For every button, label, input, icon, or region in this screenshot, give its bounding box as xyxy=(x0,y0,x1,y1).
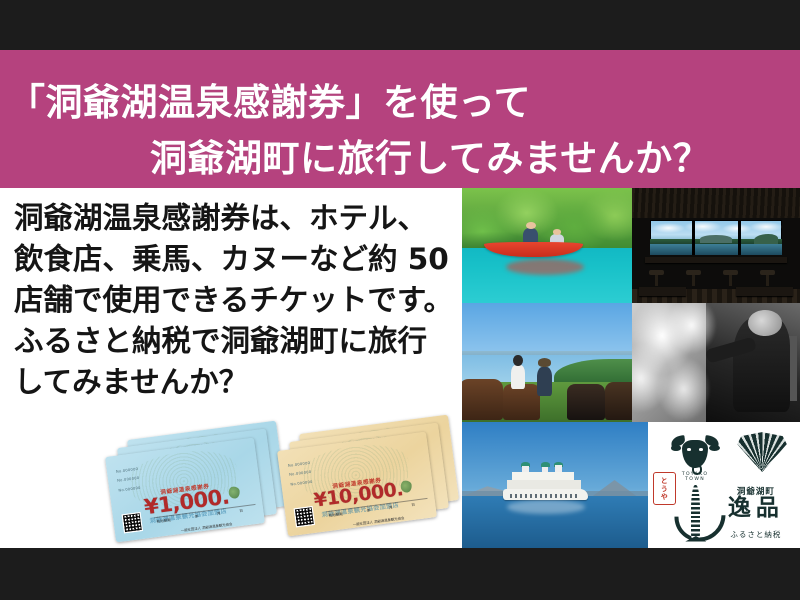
voucher-expiry-label: 有効期限 xyxy=(156,518,171,525)
body-line-1: 洞爺湖温泉感謝券は、ホテル、 xyxy=(14,198,466,239)
voucher-photo-group: 洞爺湖温泉感謝券 洞爺湖温泉感謝券 No.000000 No.000000 No… xyxy=(100,422,460,548)
cruise-ship-photo xyxy=(462,422,648,548)
body-copy: 洞爺湖温泉感謝券は、ホテル、 飲食店、乗馬、カヌーなど約 50 店舗で使用できる… xyxy=(14,198,466,403)
headline-line-2: 洞爺湖町に旅行してみませんか？ xyxy=(150,128,710,182)
qr-code-icon xyxy=(122,512,143,533)
logo-roman-text: TOYAKO TOWN xyxy=(671,472,720,482)
slide-canvas: 「洞爺湖温泉感謝券」を使って 洞爺湖町に旅行してみませんか？ 洞爺湖温泉感謝券は… xyxy=(0,50,800,548)
voucher-expiry-year: 年 xyxy=(367,508,371,513)
logo-main-word: 逸品 xyxy=(718,495,794,521)
lodge-interior-lake-view-photo xyxy=(632,188,800,303)
body-line-4: ふるさと納税で洞爺湖町に旅行 xyxy=(14,321,466,362)
voucher-expiry-month: 月 xyxy=(217,512,221,517)
voucher-expiry-day: 日 xyxy=(411,503,415,508)
headline-band: 「洞爺湖温泉感謝券」を使って 洞爺湖町に旅行してみませんか？ xyxy=(0,50,800,188)
headline-line-1: 「洞爺湖温泉感謝券」を使って xyxy=(8,72,531,126)
letterbox-bar-bottom xyxy=(0,548,800,600)
rice-crescent-icon xyxy=(674,485,718,540)
qr-code-icon xyxy=(294,506,315,527)
voucher-expiry-year: 年 xyxy=(195,514,199,519)
cow-head-icon xyxy=(672,433,718,471)
steam-monochrome-photo xyxy=(632,303,800,422)
letterbox-bar-top xyxy=(0,0,800,50)
logo-subtitle: ふるさと納税 xyxy=(718,529,794,540)
voucher-stack-10000: 洞爺湖温泉感謝券 洞爺湖温泉感謝券 No.000000 No.000000 No… xyxy=(282,424,457,536)
body-line-3: 店舗で使用できるチケットです。 xyxy=(14,280,466,321)
body-line-2: 飲食店、乗馬、カヌーなど約 50 xyxy=(14,239,466,280)
voucher-expiry-month: 月 xyxy=(389,506,393,511)
presentation-slide-image: 「洞爺湖温泉感謝券」を使って 洞爺湖町に旅行してみませんか？ 洞爺湖温泉感謝券は… xyxy=(0,0,800,600)
toyako-town-brand-logo: とうや TOYAKO TOWN 洞爺湖町 逸品 ふるさと納税 xyxy=(648,422,800,548)
voucher-stack-1000: 洞爺湖温泉感謝券 洞爺湖温泉感謝券 No.000000 No.000000 No… xyxy=(110,430,285,542)
body-line-5: してみませんか？ xyxy=(14,362,466,403)
horseback-riding-photo xyxy=(462,303,632,422)
voucher-card-front-10000: No.000000 No.000000 No.000000 洞爺湖温泉感謝券 ¥… xyxy=(277,432,437,537)
voucher-expiry-day: 日 xyxy=(239,509,243,514)
scallop-shell-icon xyxy=(736,432,788,472)
photo-mosaic: とうや TOYAKO TOWN 洞爺湖町 逸品 ふるさと納税 xyxy=(462,188,800,548)
voucher-expiry-label: 有効期限 xyxy=(328,512,343,519)
voucher-card-front-1000: No.000000 No.000000 No.000000 洞爺湖温泉感謝券 ¥… xyxy=(105,438,265,543)
canoe-on-lake-photo xyxy=(462,188,632,303)
